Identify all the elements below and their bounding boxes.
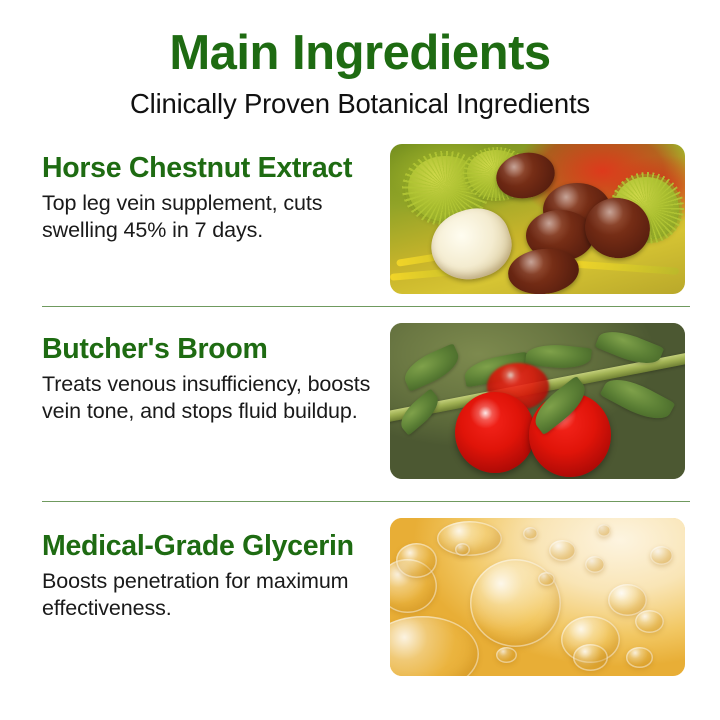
leaf-streak — [567, 260, 679, 275]
ingredient-name: Medical-Grade Glycerin — [42, 530, 374, 563]
oil-bubble — [635, 610, 665, 634]
oil-bubble — [549, 540, 576, 561]
ingredient-name: Butcher's Broom — [42, 333, 374, 366]
page-title: Main Ingredients — [0, 26, 720, 81]
section-divider — [42, 501, 690, 502]
ingredient-text-block: Butcher's Broom Treats venous insufficie… — [30, 319, 374, 425]
ingredient-description: Top leg vein supplement, cuts swelling 4… — [42, 190, 374, 244]
photo-background — [390, 518, 685, 676]
oil-bubble — [496, 647, 517, 663]
ingredient-list: Horse Chestnut Extract Top leg vein supp… — [0, 138, 720, 682]
ingredient-name: Horse Chestnut Extract — [42, 152, 374, 185]
header: Main Ingredients Clinically Proven Botan… — [0, 0, 720, 120]
ingredient-description: Boosts penetration for maximum effective… — [42, 568, 374, 622]
ingredient-text-block: Horse Chestnut Extract Top leg vein supp… — [30, 138, 374, 244]
butchers-broom-photo — [390, 323, 685, 479]
oil-bubble — [396, 543, 437, 578]
photo-background — [390, 144, 685, 294]
photo-background — [390, 323, 685, 479]
plant-leaf — [600, 370, 676, 428]
section-divider — [42, 306, 690, 307]
plant-leaf — [399, 343, 464, 391]
ingredient-item-horse-chestnut: Horse Chestnut Extract Top leg vein supp… — [30, 138, 690, 294]
page-subtitle: Clinically Proven Botanical Ingredients — [0, 87, 720, 120]
ingredient-description: Treats venous insufficiency, boosts vein… — [42, 371, 374, 425]
oil-bubble — [650, 546, 674, 565]
oil-bubble — [573, 644, 608, 671]
red-berry — [455, 392, 535, 473]
oil-bubble — [585, 556, 606, 573]
glycerin-photo — [390, 518, 685, 676]
ingredient-text-block: Medical-Grade Glycerin Boosts penetratio… — [30, 514, 374, 622]
ingredient-item-butchers-broom: Butcher's Broom Treats venous insufficie… — [30, 319, 690, 489]
oil-bubble — [626, 647, 653, 668]
ingredient-item-medical-grade-glycerin: Medical-Grade Glycerin Boosts penetratio… — [30, 514, 690, 682]
oil-bubble — [455, 543, 470, 556]
oil-bubble — [538, 572, 556, 586]
oil-bubble — [390, 616, 479, 676]
horse-chestnut-photo — [390, 144, 685, 294]
ingredients-infographic: Main Ingredients Clinically Proven Botan… — [0, 0, 720, 720]
oil-bubble — [597, 524, 612, 537]
oil-bubble — [523, 527, 538, 540]
